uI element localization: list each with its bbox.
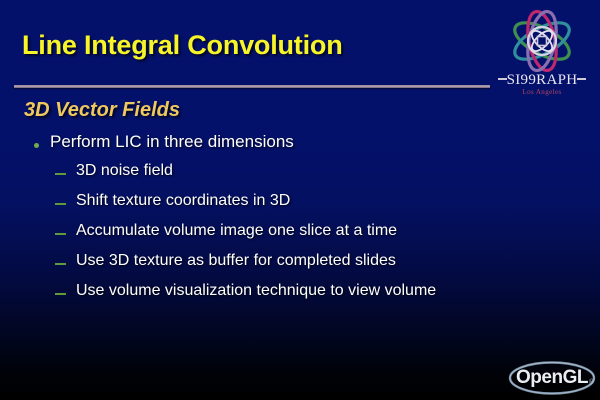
opengl-wordmark: OpenGL (506, 367, 598, 389)
wordmark-rule-left (498, 78, 507, 80)
bullet-dash-icon (55, 203, 66, 205)
bullet-dash-icon (55, 233, 66, 235)
bullet-dash-icon (55, 293, 66, 295)
siggraph-rings-icon (494, 8, 590, 74)
slide-subtitle: 3D Vector Fields (24, 99, 180, 122)
siggraph-logo: SI99RAPH Los Angeles (488, 8, 596, 104)
list-item-label: Perform LIC in three dimensions (50, 132, 294, 152)
bullet-list: Perform LIC in three dimensions 3D noise… (0, 132, 600, 312)
list-item: 3D noise field (0, 162, 600, 192)
bullet-dash-icon (55, 263, 66, 265)
wordmark-rule-right (577, 78, 586, 80)
list-item-label: Use volume visualization technique to vi… (76, 282, 436, 300)
list-item-label: Accumulate volume image one slice at a t… (76, 222, 397, 240)
opengl-trademark: ® (589, 379, 594, 386)
title-divider (14, 85, 490, 88)
list-item: Use volume visualization technique to vi… (0, 282, 600, 312)
siggraph-city-label: Los Angeles (488, 88, 596, 96)
list-item: Shift texture coordinates in 3D (0, 192, 600, 222)
list-item-label: Use 3D texture as buffer for completed s… (76, 252, 396, 270)
bullet-dot-icon (34, 143, 39, 148)
slide-canvas: Line Integral Convolution 3D Vector Fiel… (0, 0, 600, 400)
siggraph-wordmark-text: SI99RAPH (507, 72, 578, 88)
list-item-label: 3D noise field (76, 162, 173, 180)
siggraph-wordmark: SI99RAPH (488, 72, 596, 89)
opengl-logo: OpenGL ® (506, 358, 598, 398)
list-item-label: Shift texture coordinates in 3D (76, 192, 290, 210)
list-item: Perform LIC in three dimensions (0, 132, 600, 162)
bullet-dash-icon (55, 173, 66, 175)
slide-title: Line Integral Convolution (22, 30, 343, 61)
list-item: Accumulate volume image one slice at a t… (0, 222, 600, 252)
list-item: Use 3D texture as buffer for completed s… (0, 252, 600, 282)
